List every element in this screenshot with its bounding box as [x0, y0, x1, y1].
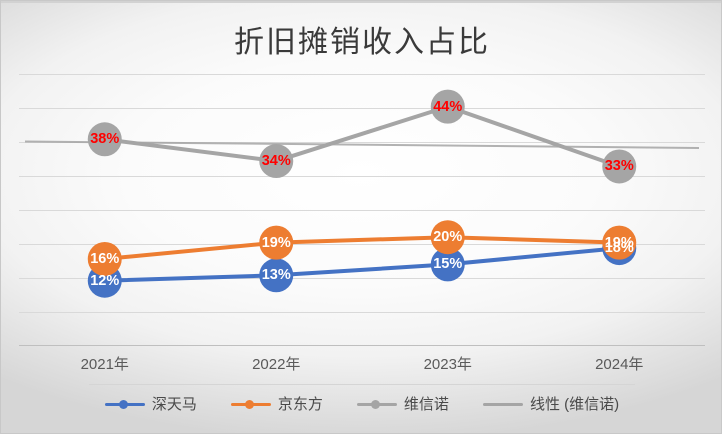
chart-container: 折旧摊销收入占比 12%13%15%18%16%19%20%19%38%34%4…: [0, 0, 722, 434]
legend-swatch-icon: [105, 398, 145, 410]
legend-item[interactable]: 深天马: [105, 393, 197, 414]
data-point-marker[interactable]: [602, 149, 636, 183]
legend-item-label: 深天马: [152, 393, 197, 414]
plot-area: 12%13%15%18%16%19%20%19%38%34%44%33%: [19, 74, 705, 346]
series-lines-layer: [19, 74, 705, 346]
data-point-marker[interactable]: [259, 144, 293, 178]
x-axis-tick-label: 2021年: [19, 353, 191, 377]
data-point-marker[interactable]: [88, 122, 122, 156]
legend-item[interactable]: 维信诺: [357, 393, 449, 414]
legend-item[interactable]: 京东方: [231, 393, 323, 414]
data-point-marker[interactable]: [259, 226, 293, 260]
legend-divider: [89, 384, 635, 385]
data-point-marker[interactable]: [431, 220, 465, 254]
legend-swatch-icon: [357, 398, 397, 410]
chart-legend: 深天马京东方维信诺线性 (维信诺): [1, 393, 722, 414]
chart-title: 折旧摊销收入占比: [1, 17, 722, 61]
legend-item[interactable]: 线性 (维信诺): [483, 393, 619, 414]
legend-item-label: 京东方: [278, 393, 323, 414]
legend-swatch-icon: [231, 398, 271, 410]
series-line: [105, 107, 620, 167]
x-axis-labels: 2021年2022年2023年2024年: [19, 353, 705, 377]
x-axis-tick-label: 2023年: [362, 353, 534, 377]
data-point-marker[interactable]: [88, 242, 122, 276]
legend-item-label: 维信诺: [404, 393, 449, 414]
legend-item-label: 线性 (维信诺): [530, 393, 619, 414]
x-axis-tick-label: 2022年: [191, 353, 363, 377]
data-point-marker[interactable]: [431, 90, 465, 124]
legend-swatch-icon: [483, 398, 523, 410]
data-point-marker[interactable]: [259, 258, 293, 292]
data-point-marker[interactable]: [602, 226, 636, 260]
x-axis-tick-label: 2024年: [534, 353, 706, 377]
